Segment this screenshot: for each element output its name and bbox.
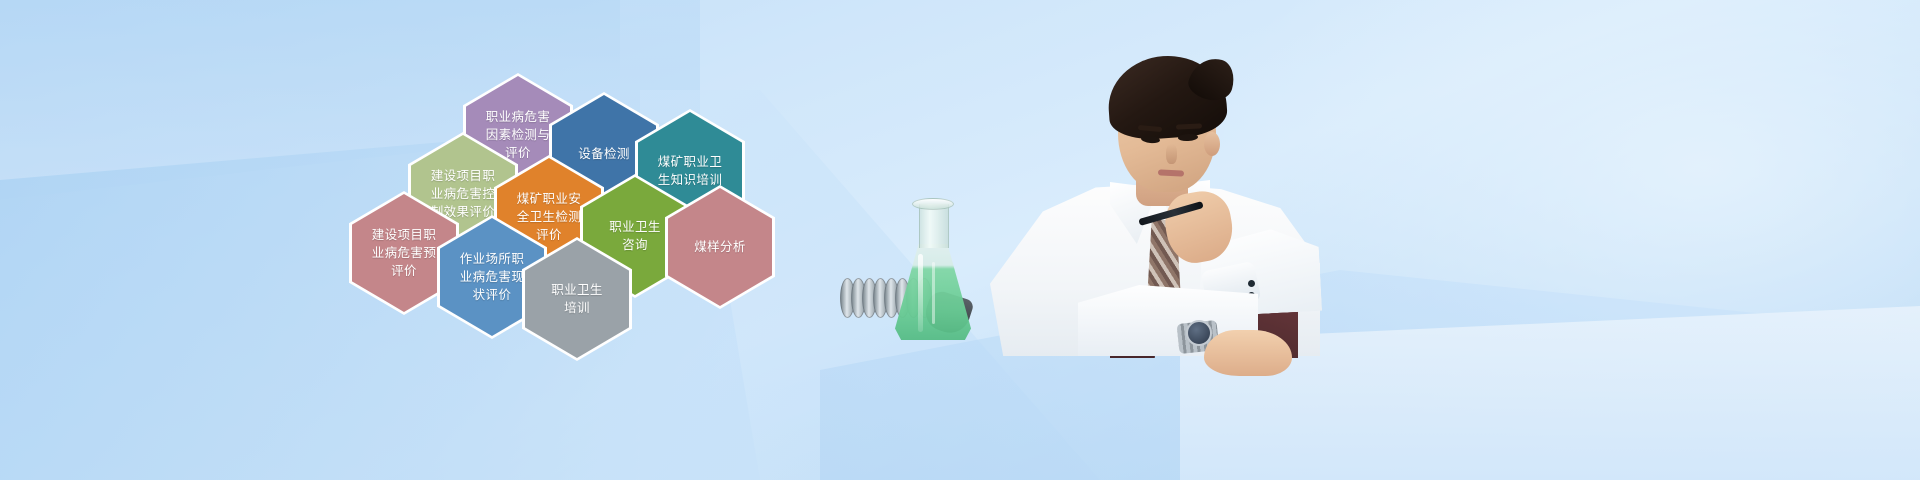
flask-neck <box>919 204 949 248</box>
cuff-button <box>1248 280 1255 287</box>
hex-occupational-health-training-label: 职业卫生 培训 <box>551 281 603 317</box>
erlenmeyer-flask <box>892 196 974 346</box>
person-resting-hand <box>1204 330 1292 376</box>
service-hexagon-cluster: 职业病危害 因素检测与 评价设备检测煤矿职业卫 生知识培训建设项目职 业病危害控… <box>0 0 820 400</box>
background-facet-bottom-sweep <box>820 250 1920 480</box>
hex-construction-project-hazard-pre-evaluation-label: 建设项目职 业病危害预 评价 <box>372 226 437 280</box>
thinking-businessman-photo <box>990 34 1320 354</box>
occupational-health-hero-banner: 职业病危害 因素检测与 评价设备检测煤矿职业卫 生知识培训建设项目职 业病危害控… <box>0 0 1920 480</box>
flask-lip <box>912 198 954 210</box>
hex-coal-mine-occupational-health-knowledge-training-label: 煤矿职业卫 生知识培训 <box>658 153 723 189</box>
flask-highlight-secondary <box>932 262 935 324</box>
person-mouth <box>1158 169 1184 176</box>
hex-workplace-occupational-disease-hazard-status-evaluation-label: 作业场所职 业病危害现 状评价 <box>460 250 525 304</box>
hex-occupational-health-consulting-label: 职业卫生 咨询 <box>609 218 661 254</box>
hex-equipment-inspection-label: 设备检测 <box>578 145 630 163</box>
flask-highlight <box>918 254 923 332</box>
person-ear <box>1204 132 1220 156</box>
person-nose <box>1166 144 1177 164</box>
hex-coal-sample-analysis-label: 煤样分析 <box>694 238 746 256</box>
